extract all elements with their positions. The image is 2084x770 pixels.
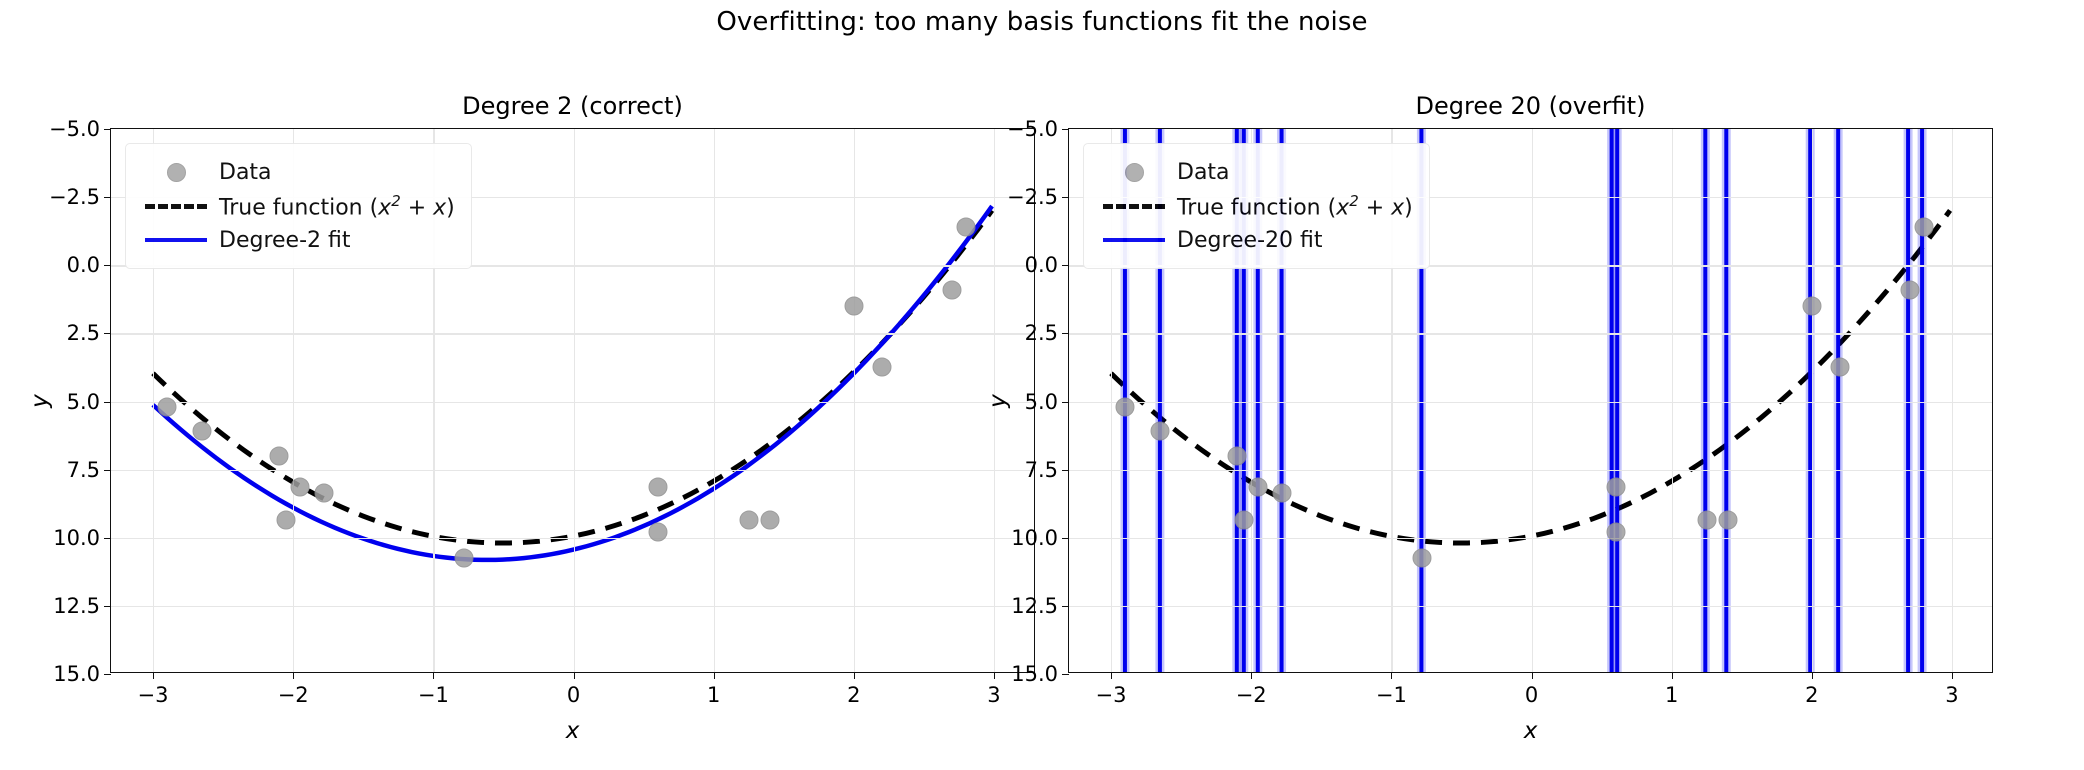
data-point [1606,478,1625,497]
legend-label-true-function: True function (x2 + x) [1171,192,1413,220]
legend-dashed-line-icon [1097,204,1171,209]
legend-label-true-function: True function (x2 + x) [213,192,455,220]
y-tick [1062,265,1069,266]
x-tick [433,672,434,679]
y-tick [104,606,111,607]
y-tick [104,197,111,198]
gridline-vertical [1952,129,1953,672]
data-point [956,218,975,237]
legend-item-fit: Degree-20 fit [1097,223,1413,257]
legend-marker-data-icon [139,163,213,182]
y-tick-label: 5.0 [67,390,100,414]
data-point [1116,397,1135,416]
data-point [648,478,667,497]
x-tick-label: −2 [278,683,309,707]
gridline-vertical [1672,129,1673,672]
legend-marker-data-icon [1097,163,1171,182]
legend-item-true-function: True function (x2 + x) [1097,189,1413,223]
gridline-vertical [1812,129,1813,672]
y-tick [1062,129,1069,130]
legend-right: Data True function (x2 + x) Degree-20 fi… [1083,143,1430,269]
x-tick [1111,672,1112,679]
gridline-vertical [714,129,715,672]
y-tick [104,265,111,266]
data-point [1830,358,1849,377]
y-tick-label: 5.0 [1025,390,1058,414]
y-tick-label: 10.0 [53,526,100,550]
axes-title-left: Degree 2 (correct) [111,92,1034,120]
legend-label-fit-left: Degree-2 fit [213,228,350,253]
data-point [760,511,779,530]
data-point [1235,511,1254,530]
y-tick-label: 0.0 [1025,253,1058,277]
y-tick-label: −5.0 [49,117,100,141]
x-tick [1532,672,1533,679]
legend-solid-line-icon [139,238,213,242]
x-tick-label: 1 [1665,683,1678,707]
x-tick-label: 2 [847,683,860,707]
x-axis-label-left: x [111,718,1034,744]
x-tick [1812,672,1813,679]
x-tick [1391,672,1392,679]
data-point [1273,483,1292,502]
data-point [1606,523,1625,542]
y-tick [104,674,111,675]
data-point [455,549,474,568]
x-tick [153,672,154,679]
y-tick [104,538,111,539]
x-tick [293,672,294,679]
figure-suptitle: Overfitting: too many basis functions fi… [0,7,2084,37]
y-tick [1062,402,1069,403]
x-tick-label: 0 [1525,683,1538,707]
legend-label-data: Data [213,160,272,185]
y-tick [1062,606,1069,607]
data-point [270,447,289,466]
y-tick [104,470,111,471]
y-tick-label: 7.5 [67,458,100,482]
data-point [1413,549,1432,568]
legend-item-true-function: True function (x2 + x) [139,189,455,223]
x-tick [714,672,715,679]
x-tick-label: −1 [418,683,449,707]
data-point [1697,511,1716,530]
y-tick-label: 12.5 [1011,594,1058,618]
gridline-horizontal [111,333,1034,334]
gridline-horizontal [111,402,1034,403]
gridline-horizontal [111,606,1034,607]
data-point [193,422,212,441]
y-tick [104,402,111,403]
axes-degree-20: Degree 20 (overfit) y x Data True functi… [1068,128,1993,673]
x-tick [574,672,575,679]
data-point [1914,218,1933,237]
data-point [1249,478,1268,497]
y-tick-label: 15.0 [1011,662,1058,686]
y-tick [1062,674,1069,675]
x-tick-label: 3 [987,683,1000,707]
x-tick [994,672,995,679]
gridline-horizontal [1069,538,1992,539]
x-tick [1251,672,1252,679]
y-tick [1062,538,1069,539]
y-tick-label: 12.5 [53,594,100,618]
data-point [158,397,177,416]
gridline-horizontal [1069,606,1992,607]
data-point [315,483,334,502]
gridline-horizontal [1069,470,1992,471]
y-tick [1062,470,1069,471]
data-point [291,478,310,497]
figure: Overfitting: too many basis functions fi… [0,0,2084,770]
gridline-horizontal [1069,402,1992,403]
gridline-vertical [574,129,575,672]
y-tick-label: 2.5 [67,321,100,345]
legend-item-data: Data [139,155,455,189]
data-point [1151,422,1170,441]
x-tick-label: −2 [1236,683,1267,707]
data-point [1802,297,1821,316]
axes-degree-2: Degree 2 (correct) y x Data True functio… [110,128,1035,673]
x-tick [1672,672,1673,679]
x-tick-label: −3 [1096,683,1127,707]
x-tick-label: 3 [1945,683,1958,707]
x-tick-label: 2 [1805,683,1818,707]
legend-label-data: Data [1171,160,1230,185]
x-tick-label: 0 [567,683,580,707]
data-point [739,511,758,530]
legend-dashed-line-icon [139,204,213,209]
gridline-vertical [1532,129,1533,672]
x-tick [1952,672,1953,679]
y-tick-label: −5.0 [1007,117,1058,141]
gridline-horizontal [1069,333,1992,334]
x-axis-label-right: x [1069,718,1992,744]
data-point [1900,280,1919,299]
data-point [277,511,296,530]
y-tick [1062,333,1069,334]
data-point [872,358,891,377]
gridline-vertical [854,129,855,672]
legend-left: Data True function (x2 + x) Degree-2 fit [125,143,472,269]
y-tick [104,333,111,334]
data-point [844,297,863,316]
y-tick-label: 10.0 [1011,526,1058,550]
gridline-horizontal [111,470,1034,471]
y-tick-label: 7.5 [1025,458,1058,482]
y-tick-label: −2.5 [1007,185,1058,209]
data-point [1718,511,1737,530]
y-tick-label: 0.0 [67,253,100,277]
x-tick [854,672,855,679]
legend-item-fit: Degree-2 fit [139,223,455,257]
data-point [648,523,667,542]
legend-solid-line-icon [1097,238,1171,242]
y-tick-label: −2.5 [49,185,100,209]
y-tick [1062,197,1069,198]
y-tick-label: 2.5 [1025,321,1058,345]
legend-item-data: Data [1097,155,1413,189]
x-tick-label: 1 [707,683,720,707]
data-point [942,280,961,299]
axes-title-right: Degree 20 (overfit) [1069,92,1992,120]
data-point [1228,447,1247,466]
gridline-horizontal [111,538,1034,539]
x-tick-label: −1 [1376,683,1407,707]
legend-label-fit-right: Degree-20 fit [1171,228,1322,253]
y-axis-label-left: y [27,394,53,408]
x-tick-label: −3 [138,683,169,707]
y-tick-label: 15.0 [53,662,100,686]
y-tick [104,129,111,130]
y-axis-label-right: y [985,394,1011,408]
